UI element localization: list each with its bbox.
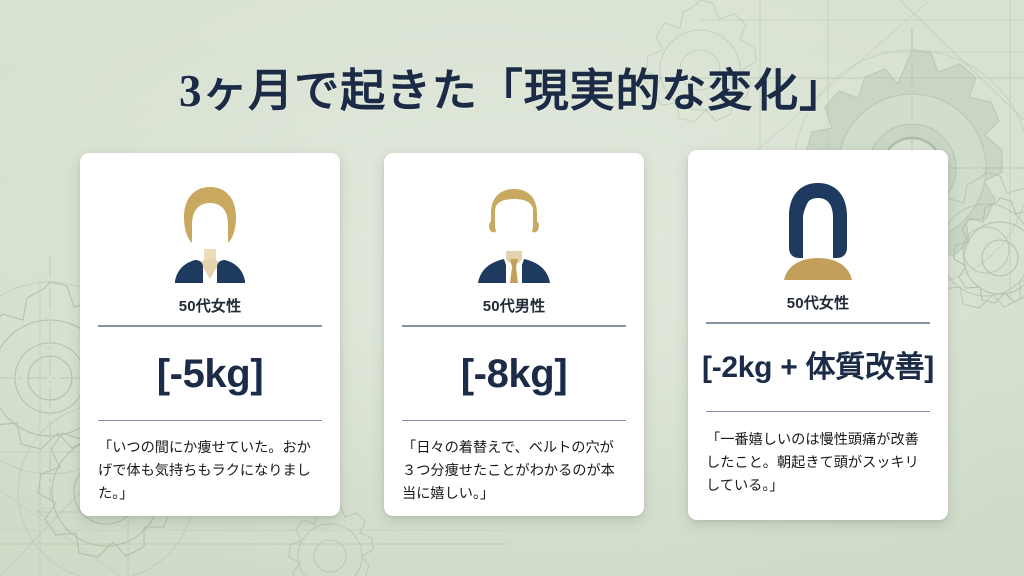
testimonial-card[interactable]: 50代女性 [-5kg] 「いつの間にか痩せていた。おかげで体も気持ちもラクにな…: [80, 153, 340, 516]
woman-short-hair-blazer-avatar-icon: [162, 181, 258, 283]
testimonial-quote: 「いつの間にか痩せていた。おかげで体も気持ちもラクになりました。」: [80, 421, 340, 506]
divider-bottom: [706, 411, 930, 413]
result-headline: [-2kg + 体質改善]: [702, 324, 934, 411]
divider-bottom: [98, 420, 322, 422]
card-label: 50代女性: [179, 295, 241, 316]
divider-bottom: [402, 420, 626, 422]
testimonial-card[interactable]: 50代男性 [-8kg] 「日々の着替えで、ベルトの穴が３つ分痩せたことがわかる…: [384, 153, 644, 516]
man-suit-tie-avatar-icon: [466, 181, 562, 283]
divider-top: [98, 325, 322, 327]
testimonial-card[interactable]: 50代女性 [-2kg + 体質改善] 「一番嬉しいのは慢性頭痛が改善したこと。…: [688, 150, 948, 520]
card-label: 50代男性: [483, 295, 545, 316]
testimonial-card-group: 50代女性 [-5kg] 「いつの間にか痩せていた。おかげで体も気持ちもラクにな…: [0, 0, 1024, 576]
card-label: 50代女性: [787, 292, 849, 313]
testimonial-quote: 「日々の着替えで、ベルトの穴が３つ分痩せたことがわかるのが本当に嬉しい。」: [384, 421, 644, 506]
divider-top: [402, 325, 626, 327]
woman-long-hair-avatar-icon: [770, 178, 866, 280]
testimonial-quote: 「一番嬉しいのは慢性頭痛が改善したこと。朝起きて頭がスッキリしている。」: [688, 412, 948, 498]
result-headline: [-8kg]: [461, 327, 568, 420]
divider-top: [706, 322, 930, 324]
result-headline: [-5kg]: [157, 327, 264, 420]
